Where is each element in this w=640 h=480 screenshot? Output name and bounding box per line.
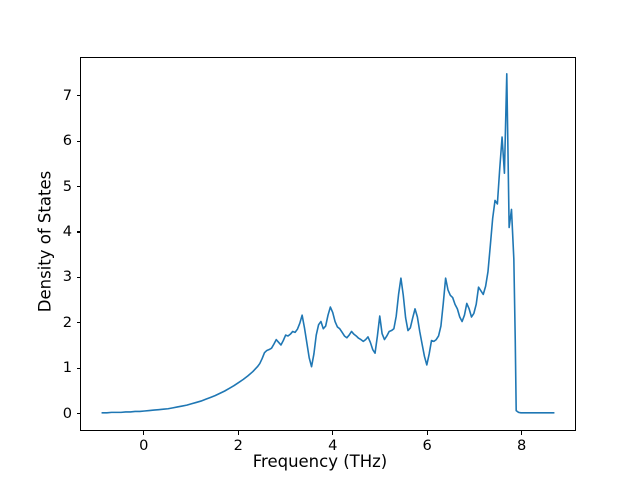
y-tick-mark (77, 322, 81, 323)
y-tick-label: 4 (52, 223, 72, 240)
x-axis-label: Frequency (THz) (0, 452, 640, 471)
y-tick-label: 3 (52, 268, 72, 285)
y-tick-mark (77, 277, 81, 278)
plot-axes (80, 57, 576, 431)
dos-series-line (102, 74, 554, 413)
x-tick-mark (427, 431, 428, 435)
y-tick-label: 6 (52, 132, 72, 149)
x-tick-mark (332, 431, 333, 435)
y-tick-mark (77, 186, 81, 187)
y-tick-label: 0 (52, 405, 72, 422)
y-tick-label: 1 (52, 359, 72, 376)
y-tick-label: 2 (52, 314, 72, 331)
y-axis-label-container: Density of States (0, 0, 40, 480)
x-tick-mark (521, 431, 522, 435)
y-tick-mark (77, 95, 81, 96)
x-tick-mark (143, 431, 144, 435)
y-tick-label: 7 (52, 87, 72, 104)
dos-line-chart (81, 58, 575, 430)
figure-canvas: Density of States 0123456702468 Frequenc… (0, 0, 640, 480)
y-tick-mark (77, 231, 81, 232)
y-tick-label: 5 (52, 178, 72, 195)
y-tick-mark (77, 141, 81, 142)
y-tick-mark (77, 368, 81, 369)
y-tick-mark (77, 413, 81, 414)
x-tick-mark (238, 431, 239, 435)
